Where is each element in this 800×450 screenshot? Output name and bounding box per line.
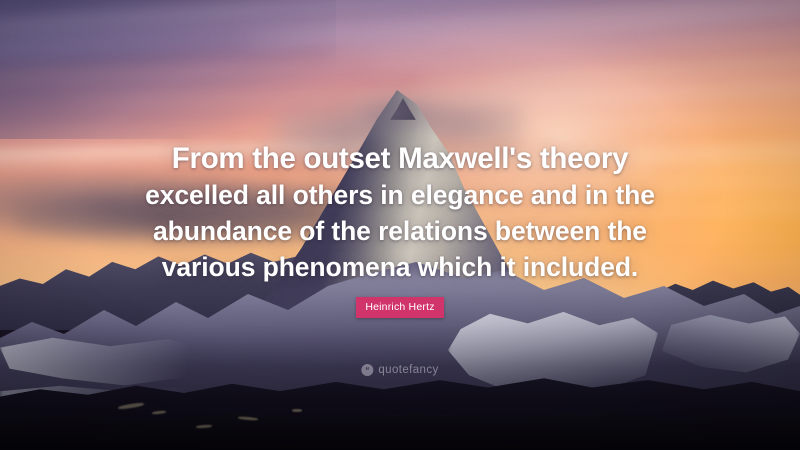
author-badge[interactable]: Heinrich Hertz: [356, 297, 443, 318]
quote-line-3: abundance of the relations between the: [140, 213, 660, 249]
quote-line-2: excelled all others in elegance and in t…: [140, 177, 660, 213]
quote-mark-glyph: “: [365, 367, 369, 375]
scree-fleck: [292, 409, 302, 412]
quote-poster: From the outset Maxwell's theory excelle…: [0, 0, 800, 450]
quote-line-4: various phenomena which it included.: [140, 249, 660, 285]
watermark-brand-label: quotefancy: [378, 364, 438, 376]
quotefancy-watermark[interactable]: “ quotefancy: [361, 364, 438, 376]
quote-mark-circle-icon: “: [361, 364, 373, 376]
quote-line-1: From the outset Maxwell's theory: [140, 141, 660, 177]
quote-text: From the outset Maxwell's theory excelle…: [140, 0, 660, 285]
